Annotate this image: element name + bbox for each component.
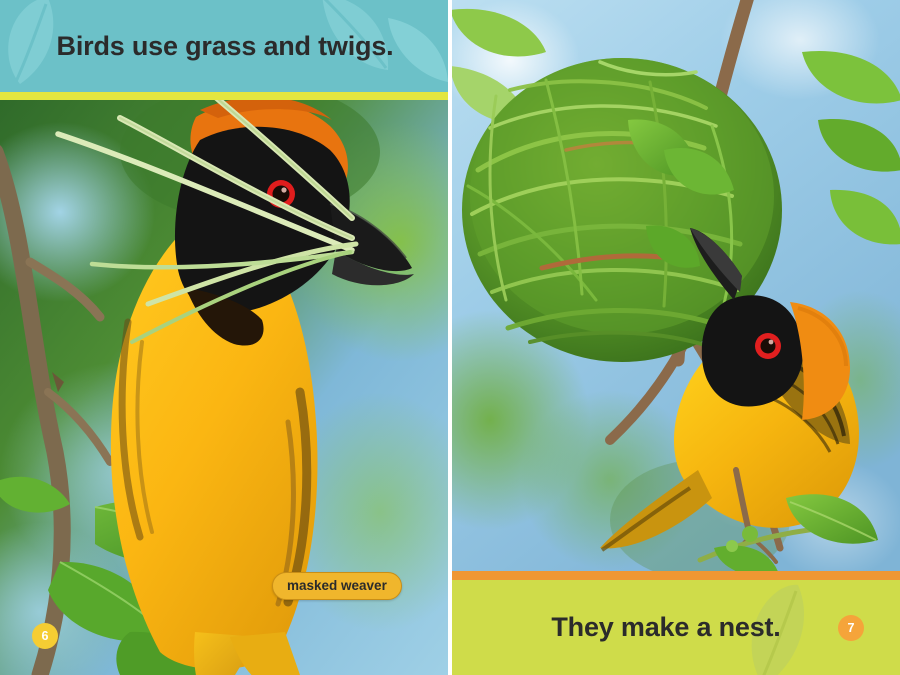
page-number-right: 7 [838, 615, 864, 641]
right-page-footer-banner: They make a nest. [450, 580, 900, 675]
left-page: Birds use grass and twigs. masked weaver… [0, 0, 450, 675]
left-page-divider-rule [0, 92, 450, 100]
right-page-photo [450, 0, 900, 580]
page-number-left: 6 [32, 623, 58, 649]
leaf-icon [384, 2, 450, 88]
right-page-footer-text: They make a nest. [551, 612, 780, 643]
left-page-header-banner: Birds use grass and twigs. [0, 0, 450, 92]
right-page-divider-rule [450, 571, 900, 580]
photo-caption-label: masked weaver [272, 572, 402, 600]
book-spread: Birds use grass and twigs. masked weaver… [0, 0, 900, 675]
left-page-header-text: Birds use grass and twigs. [57, 31, 394, 62]
right-page: They make a nest. 7 [450, 0, 900, 675]
page-gutter [448, 0, 452, 675]
